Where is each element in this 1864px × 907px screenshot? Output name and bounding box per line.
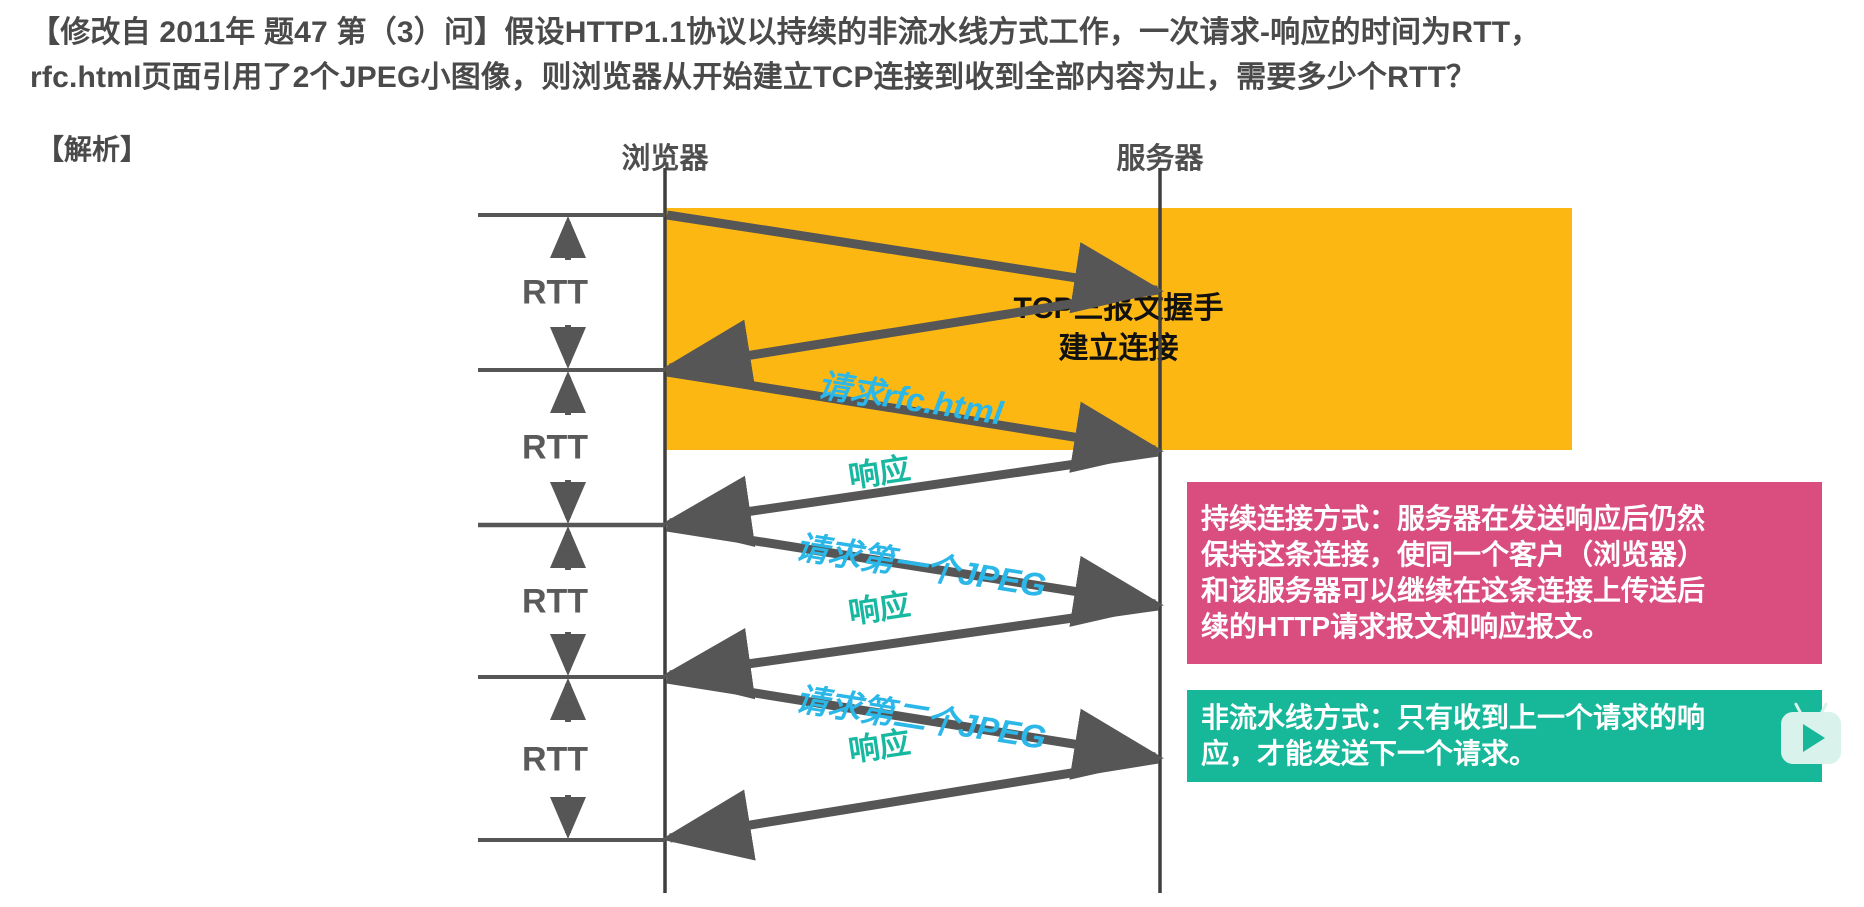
msg-arrow-response-jpeg-2	[670, 759, 1158, 838]
rtt-label-0: RTT	[522, 274, 588, 313]
rtt-label-2: RTT	[522, 583, 588, 622]
msg-arrow-syn	[667, 215, 1155, 290]
persistent-box-line-2: 保持这条连接，使同一个客户（浏览器）	[1201, 537, 1810, 573]
rtt-label-3: RTT	[522, 741, 588, 780]
msg-arrow-response-rfc	[670, 452, 1158, 523]
sequence-diagram: 浏览器 服务器 TCP三报文握手 建立连接	[0, 0, 1864, 907]
persistent-box-line-3: 和该服务器可以继续在这条连接上传送后	[1201, 573, 1810, 609]
play-triangle-icon	[1803, 724, 1825, 752]
rtt-label-1: RTT	[522, 429, 588, 468]
msg-label-response-jpeg-1: 响应	[845, 579, 913, 633]
msg-label-response-rfc: 响应	[845, 443, 913, 497]
msg-label-response-jpeg-2: 响应	[845, 717, 913, 771]
msg-arrow-response-jpeg-1	[670, 606, 1158, 675]
nonpipeline-box-line-1: 非流水线方式：只有收到上一个请求的响	[1201, 700, 1810, 736]
persistent-box-line-1: 持续连接方式：服务器在发送响应后仍然	[1201, 501, 1810, 537]
persistent-connection-box: 持续连接方式：服务器在发送响应后仍然 保持这条连接，使同一个客户（浏览器） 和该…	[1187, 482, 1822, 664]
play-badge-icon	[1781, 712, 1841, 764]
msg-arrow-syn-ack	[670, 290, 1158, 368]
non-pipeline-box: 非流水线方式：只有收到上一个请求的响 应，才能发送下一个请求。	[1187, 690, 1822, 782]
nonpipeline-box-line-2: 应，才能发送下一个请求。	[1201, 736, 1810, 772]
persistent-box-line-4: 续的HTTP请求报文和响应报文。	[1201, 609, 1810, 645]
